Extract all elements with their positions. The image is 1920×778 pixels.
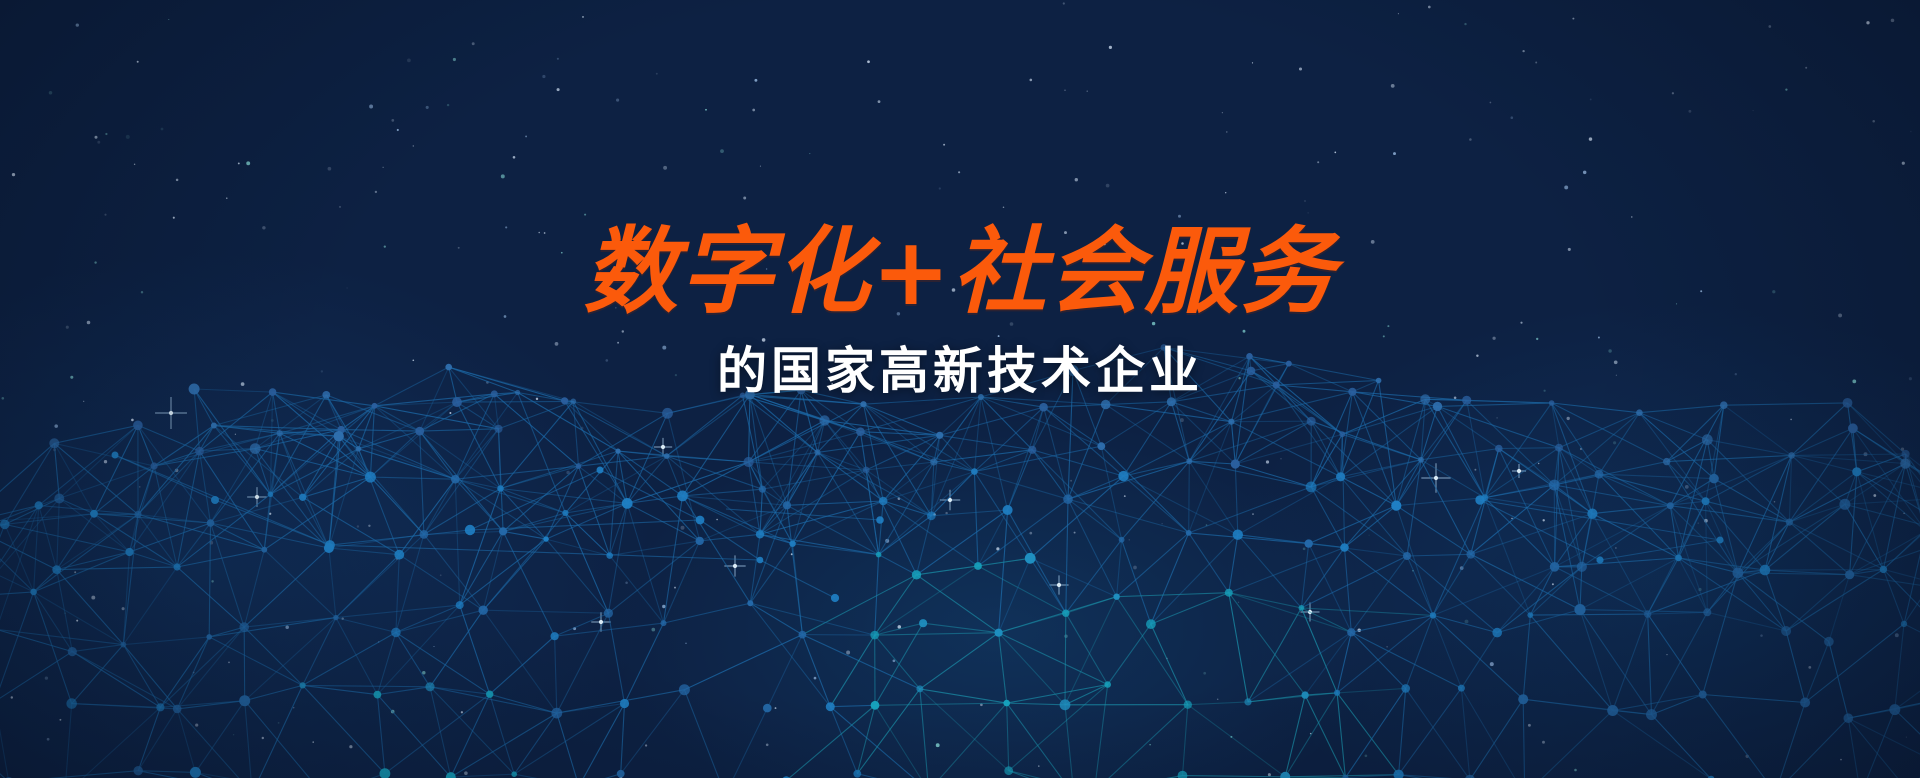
banner-subline: 的国家高新技术企业 (0, 342, 1920, 400)
banner-text-block: 数字化+社会服务 的国家高新技术企业 (0, 222, 1920, 399)
banner-headline: 数字化+社会服务 (0, 222, 1920, 324)
hero-banner: 数字化+社会服务 的国家高新技术企业 (0, 0, 1920, 778)
